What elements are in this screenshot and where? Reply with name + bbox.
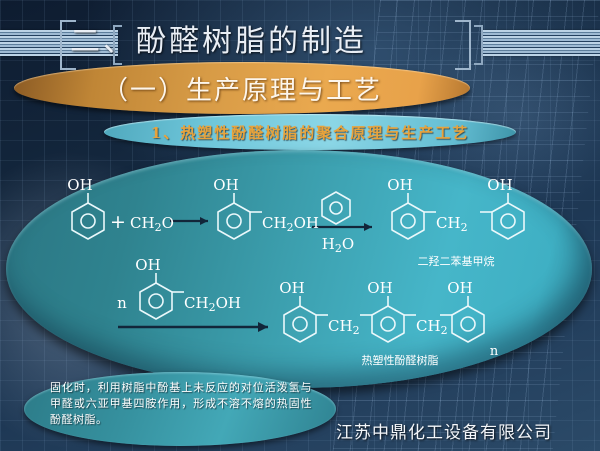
phenol-ring-2 <box>322 192 350 224</box>
item-heading: 1、热塑性酚醛树脂的聚合原理与生产工艺 <box>104 114 516 150</box>
label-bridge-ch2: CH2 <box>436 214 468 234</box>
label-oh-polymer-2: OH <box>367 279 392 297</box>
product1-ring-right <box>480 193 524 239</box>
label-oh-product-left: OH <box>387 176 412 194</box>
reaction-arrow-3 <box>118 322 268 332</box>
section-heading: （一）生产原理与工艺 <box>14 62 470 114</box>
label-oh-product-right: OH <box>487 176 512 194</box>
label-water: H2O <box>322 235 354 255</box>
label-ch2oh: CH2OH <box>262 214 319 234</box>
product1-ring-left <box>392 193 436 239</box>
polymer-ring-2 <box>360 296 416 342</box>
label-oh-methylol: OH <box>213 176 238 194</box>
slide-title: 二、酚醛树脂的制造 <box>70 18 460 66</box>
section-ellipse-orange: （一）生产原理与工艺 <box>14 62 470 114</box>
label-oh-reactant2: OH <box>135 256 160 274</box>
reaction-arrow-2 <box>312 223 372 231</box>
polymer-ring-1 <box>284 296 328 342</box>
header-stripe-bars-right <box>482 30 600 56</box>
note-text: 固化时，利用树脂中酚基上未反应的对位活泼氢与甲醛或六亚甲基四胺作用，形成不溶不熔… <box>50 380 312 428</box>
label-product-name-2: 热塑性酚醛树脂 <box>362 353 439 367</box>
label-product-name-1: 二羟二苯基甲烷 <box>418 254 495 268</box>
label-oh-polymer-1: OH <box>279 279 304 297</box>
label-plus: + <box>110 211 126 233</box>
item-ellipse-cyan: 1、热塑性酚醛树脂的聚合原理与生产工艺 <box>104 114 516 150</box>
presentation-slide: 二、酚醛树脂的制造 （一）生产原理与工艺 1、热塑性酚醛树脂的聚合原理与生产工艺 <box>0 0 600 451</box>
header-bracket-inner-right <box>474 25 483 65</box>
label-coefficient-n: n <box>117 294 127 312</box>
label-oh-phenol1: OH <box>67 176 92 194</box>
label-polymer-bridge-2: CH2 <box>416 317 448 337</box>
label-polymer-bridge-1: CH2 <box>328 317 360 337</box>
label-ch2oh-2: CH2OH <box>184 294 241 314</box>
methylolphenol-ring-2 <box>140 273 184 319</box>
reaction-arrow-1 <box>170 217 208 225</box>
label-oh-polymer-3: OH <box>447 279 472 297</box>
label-formaldehyde: CH2O <box>130 214 174 234</box>
phenol-ring-1 <box>72 193 104 239</box>
note-ellipse: 固化时，利用树脂中酚基上未反应的对位活泼氢与甲醛或六亚甲基四胺作用，形成不溶不熔… <box>24 372 336 446</box>
methylolphenol-ring <box>218 193 262 239</box>
label-repeat-n: n <box>490 344 499 359</box>
reaction-scheme: OH + CH2O OH CH2OH H2O OH CH2 OH 二羟二苯基甲烷… <box>0 150 600 390</box>
company-watermark: 江苏中鼎化工设备有限公司 <box>336 420 596 446</box>
